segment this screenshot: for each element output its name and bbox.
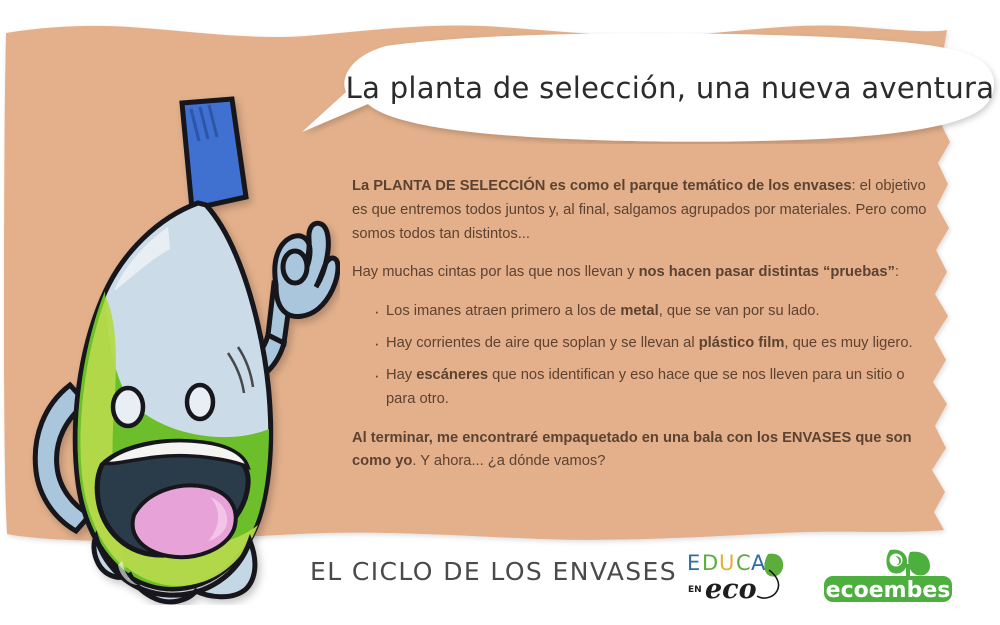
bullet-bold: metal: [620, 303, 658, 319]
bullet-pre: Hay: [386, 367, 416, 383]
mascot-ok-hand-icon: [275, 223, 338, 316]
poster-page: La planta de selección, una nueva aventu…: [0, 0, 1000, 625]
bullet-post: , que se van por su lado.: [659, 303, 820, 319]
sprout-leaf-icon: [886, 550, 930, 580]
paragraph-1: La PLANTA DE SELECCIÓN es como el parque…: [352, 175, 937, 246]
process-bullet-list: Los imanes atraen primero a los de metal…: [352, 300, 937, 411]
educa-letter-u: U: [719, 551, 734, 575]
list-item: Hay corrientes de aire que soplan y se l…: [374, 332, 937, 356]
paragraph-3: Al terminar, me encontraré empaquetado e…: [352, 427, 937, 475]
bullet-bold: escáneres: [416, 367, 488, 383]
ecoembes-logo[interactable]: ecoembes: [818, 548, 958, 606]
mascot-plastic-bottle: [10, 85, 340, 605]
bullet-bold: plástico film: [699, 335, 785, 351]
educa-letter-d: D: [702, 551, 718, 575]
educa-letter-c: C: [736, 551, 751, 575]
ecoembes-wordmark: ecoembes: [826, 578, 951, 603]
paragraph-2-bold: nos hacen pasar distintas “pruebas”: [639, 264, 895, 280]
educa-en-label: EN: [688, 585, 702, 595]
paragraph-2-rest: :: [895, 264, 899, 280]
bullet-pre: Hay corrientes de aire que soplan y se l…: [386, 335, 699, 351]
footer-title: EL CICLO DE LOS ENVASES: [310, 557, 677, 586]
paragraph-1-bold: La PLANTA DE SELECCIÓN es como el parque…: [352, 178, 852, 194]
paragraph-2: Hay muchas cintas por las que nos llevan…: [352, 261, 937, 285]
bullet-pre: Los imanes atraen primero a los de: [386, 303, 620, 319]
educa-en-eco-logo[interactable]: E D U C A EN eco: [683, 548, 789, 606]
bubble-title-text: La planta de selección, una nueva aventu…: [300, 32, 1000, 144]
educa-letter-e: E: [687, 551, 700, 575]
paragraph-3-rest: . Y ahora... ¿a dónde vamos?: [412, 453, 605, 469]
bullet-post: , que es muy ligero.: [784, 335, 912, 351]
educa-letter-a: A: [751, 551, 766, 575]
paragraph-2-lead: Hay muchas cintas por las que nos llevan…: [352, 264, 639, 280]
body-copy: La PLANTA DE SELECCIÓN es como el parque…: [352, 175, 937, 474]
mascot-right-eye: [187, 385, 213, 419]
leaf-icon: [764, 554, 783, 577]
speech-bubble: La planta de selección, una nueva aventu…: [300, 32, 1000, 144]
list-item: Los imanes atraen primero a los de metal…: [374, 300, 937, 324]
list-item: Hay escáneres que nos identifican y eso …: [374, 364, 937, 412]
educa-eco-script: eco: [705, 574, 757, 605]
ok-hand-circle: [283, 251, 307, 283]
mascot-left-eye: [113, 388, 143, 426]
